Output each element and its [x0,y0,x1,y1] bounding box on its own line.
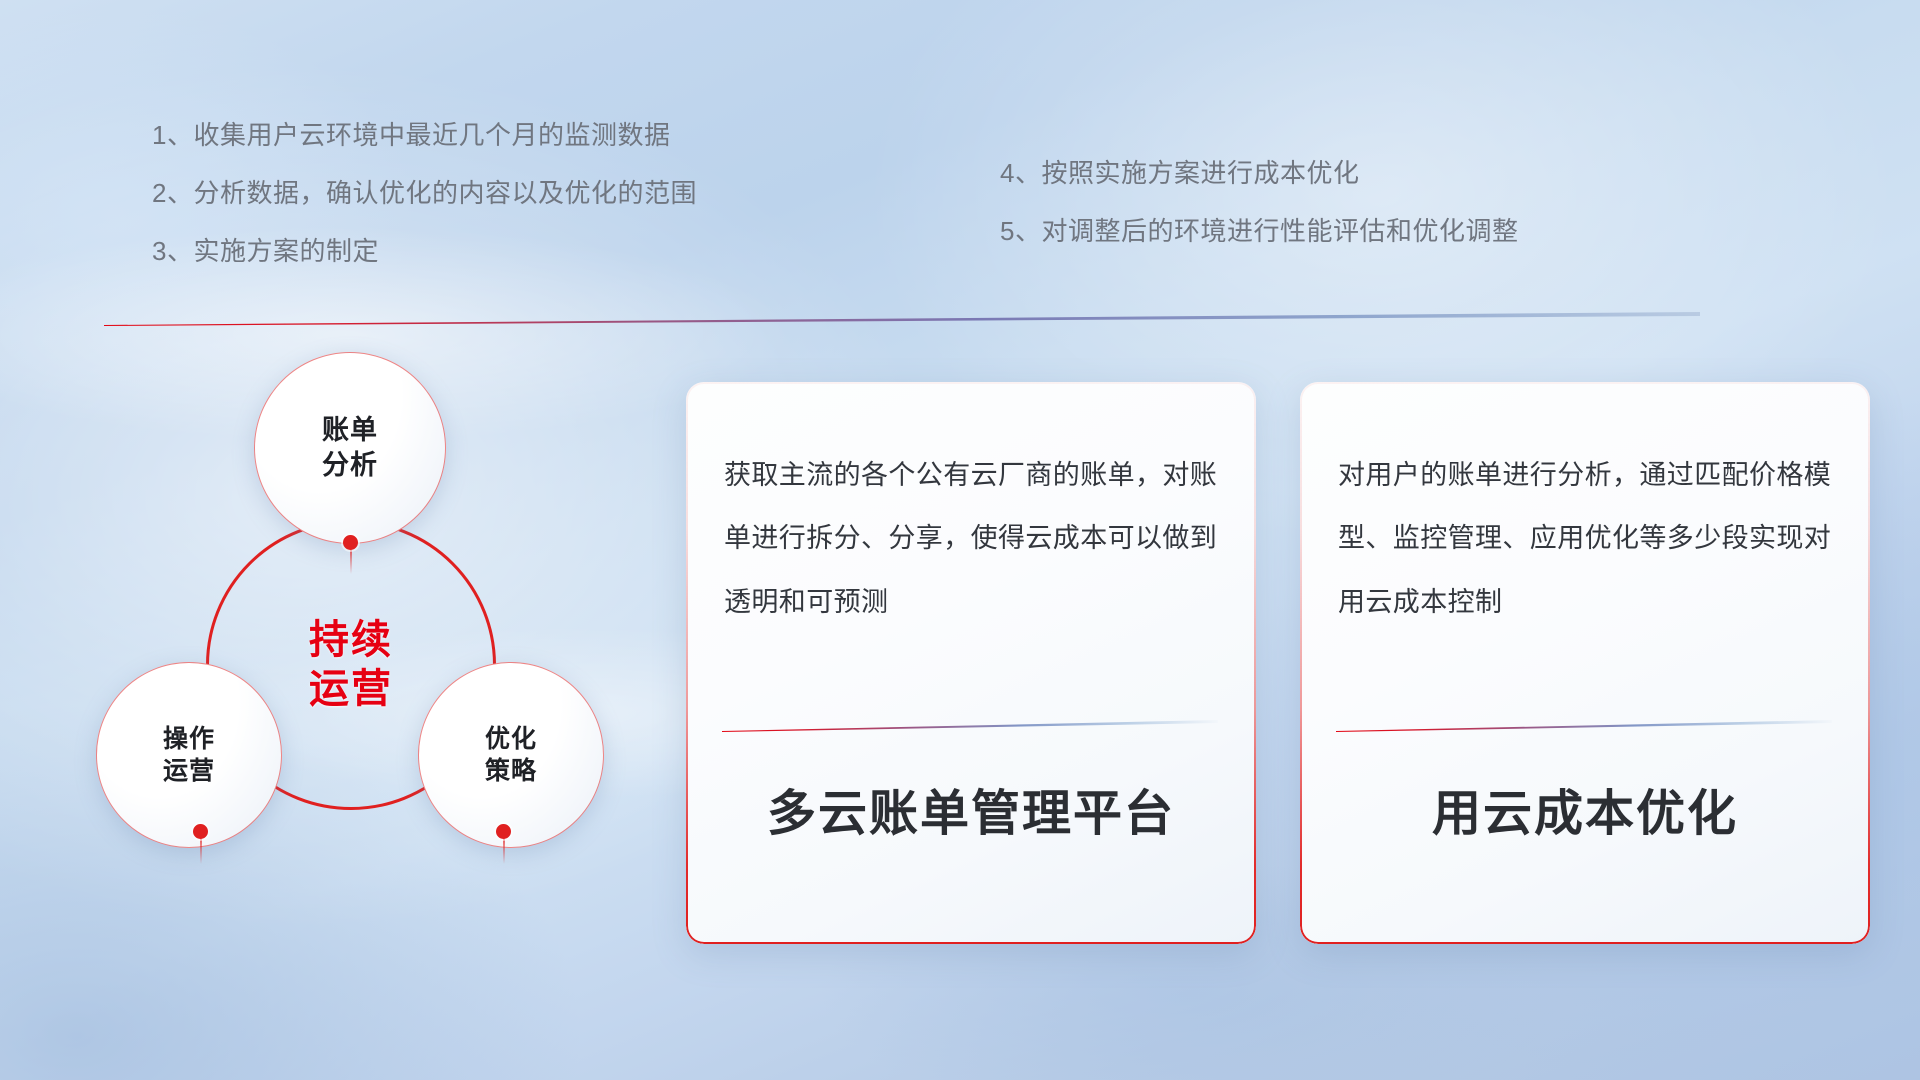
card-1-body-text: 获取主流的各个公有云厂商的账单，对账单进行拆分、分享，使得云成本可以做到透明和可… [724,444,1222,634]
step-item-1: 1、收集用户云环境中最近几个月的监测数据 [152,122,697,148]
node-tail-left-icon [200,838,202,864]
card-cloud-cost-optimization[interactable]: 对用户的账单进行分析，通过匹配价格模型、监控管理、应用优化等多少段实现对用云成本… [1300,382,1870,944]
card-1-rule [722,720,1218,732]
node-tail-right-icon [503,838,505,864]
diagram-node-optimize-policy[interactable]: 优化 策略 [418,662,604,848]
center-label-line1: 持续 [309,616,393,665]
slide-canvas: 1、收集用户云环境中最近几个月的监测数据 2、分析数据，确认优化的内容以及优化的… [0,0,1920,1080]
node-optimize-policy-line2: 策略 [485,755,537,787]
card-2-rule [1336,720,1832,732]
step-item-4: 4、按照实施方案进行成本优化 [1000,160,1518,186]
section-divider [104,312,1700,326]
steps-right-column: 4、按照实施方案进行成本优化 5、对调整后的环境进行性能评估和优化调整 [1000,160,1518,244]
card-2-title: 用云成本优化 [1300,774,1870,845]
node-ops-operation-line2: 运营 [163,755,215,787]
step-item-3: 3、实施方案的制定 [152,238,697,264]
diagram-node-bill-analysis[interactable]: 账单 分析 [254,352,446,544]
node-ops-operation-line1: 操作 [163,723,215,755]
step-item-2: 2、分析数据，确认优化的内容以及优化的范围 [152,180,697,206]
continuous-operation-diagram: 持续 运营 账单 分析 操作 运营 优化 策略 [96,352,656,952]
step-item-5: 5、对调整后的环境进行性能评估和优化调整 [1000,218,1518,244]
center-label-line2: 运营 [309,665,393,714]
node-dot-left-icon [193,824,208,839]
node-bill-analysis-line1: 账单 [322,413,378,448]
card-2-body-text: 对用户的账单进行分析，通过匹配价格模型、监控管理、应用优化等多少段实现对用云成本… [1338,444,1836,634]
steps-left-column: 1、收集用户云环境中最近几个月的监测数据 2、分析数据，确认优化的内容以及优化的… [152,122,697,264]
diagram-node-ops-operation[interactable]: 操作 运营 [96,662,282,848]
node-optimize-policy-line1: 优化 [485,723,537,755]
node-dot-right-icon [496,824,511,839]
node-bill-analysis-line2: 分析 [322,448,378,483]
card-multi-cloud-billing-platform[interactable]: 获取主流的各个公有云厂商的账单，对账单进行拆分、分享，使得云成本可以做到透明和可… [686,382,1256,944]
card-1-title: 多云账单管理平台 [686,774,1256,845]
node-dot-top-icon [343,535,358,550]
node-tail-top-icon [350,548,352,574]
